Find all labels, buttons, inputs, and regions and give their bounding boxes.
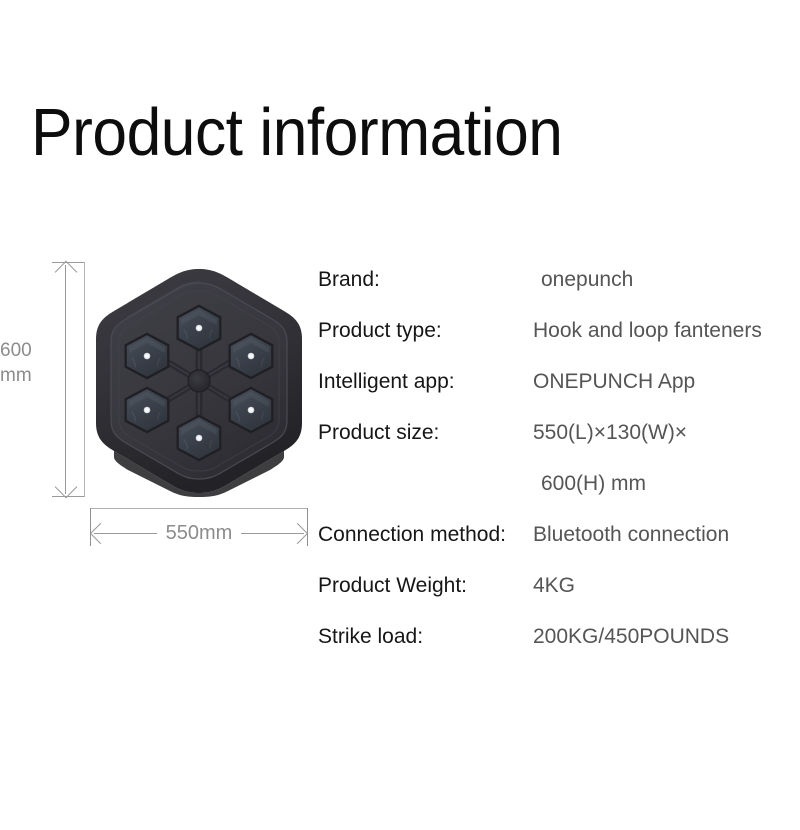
dimension-rail-vertical xyxy=(84,262,85,497)
horizontal-dimension-value: 550mm xyxy=(157,522,242,544)
arrow-down-icon xyxy=(55,476,78,499)
spec-row-strike-load: Strike load: 200KG/450POUNDS xyxy=(318,623,788,674)
horizontal-dimension-line: 550mm xyxy=(90,508,308,550)
horizontal-dimension-label: 550mm xyxy=(90,521,308,545)
device-center-hub xyxy=(188,370,210,392)
spec-row-product-size-continued: 600(H) mm xyxy=(318,470,788,521)
product-image-boxing-target xyxy=(88,265,310,497)
spec-label-brand: Brand: xyxy=(318,266,380,294)
specification-list: Brand: onepunch Product type: Hook and l… xyxy=(318,266,788,674)
spec-label-product-type: Product type: xyxy=(318,317,442,345)
spec-value-brand: onepunch xyxy=(541,266,633,294)
page-title: Product information xyxy=(31,96,562,170)
spec-value-strike-load: 200KG/450POUNDS xyxy=(533,623,729,651)
spec-row-intelligent-app: Intelligent app: ONEPUNCH App xyxy=(318,368,788,419)
vertical-dimension-label: 600 mm xyxy=(0,338,46,388)
dimension-tick-bottom xyxy=(52,496,85,497)
spec-row-product-type: Product type: Hook and loop fanteners xyxy=(318,317,788,368)
spec-value-product-weight: 4KG xyxy=(533,572,575,600)
spec-value-product-size: 550(L)×130(W)× xyxy=(533,419,687,447)
dimension-arrow-shaft-vertical xyxy=(65,265,66,494)
vertical-dimension-unit: mm xyxy=(0,363,46,388)
spec-value-connection-method: Bluetooth connection xyxy=(533,521,729,549)
spec-row-product-weight: Product Weight: 4KG xyxy=(318,572,788,623)
spec-row-brand: Brand: onepunch xyxy=(318,266,788,317)
spec-value-product-size-continued: 600(H) mm xyxy=(541,470,646,498)
spec-label-strike-load: Strike load: xyxy=(318,623,423,651)
product-figure: 600 mm xyxy=(0,250,320,560)
spec-row-connection-method: Connection method: Bluetooth connection xyxy=(318,521,788,572)
spec-label-product-weight: Product Weight: xyxy=(318,572,467,600)
spec-value-intelligent-app: ONEPUNCH App xyxy=(533,368,695,396)
spec-row-product-size: Product size: 550(L)×130(W)× xyxy=(318,419,788,470)
spec-label-intelligent-app: Intelligent app: xyxy=(318,368,455,396)
vertical-dimension-line xyxy=(45,262,85,497)
arrow-up-icon xyxy=(55,261,78,284)
spec-label-product-size: Product size: xyxy=(318,419,439,447)
spec-value-product-type: Hook and loop fanteners xyxy=(533,317,762,345)
spec-label-connection-method: Connection method: xyxy=(318,521,506,549)
vertical-dimension-value: 600 xyxy=(0,338,46,363)
dimension-rail-horizontal xyxy=(90,508,308,509)
